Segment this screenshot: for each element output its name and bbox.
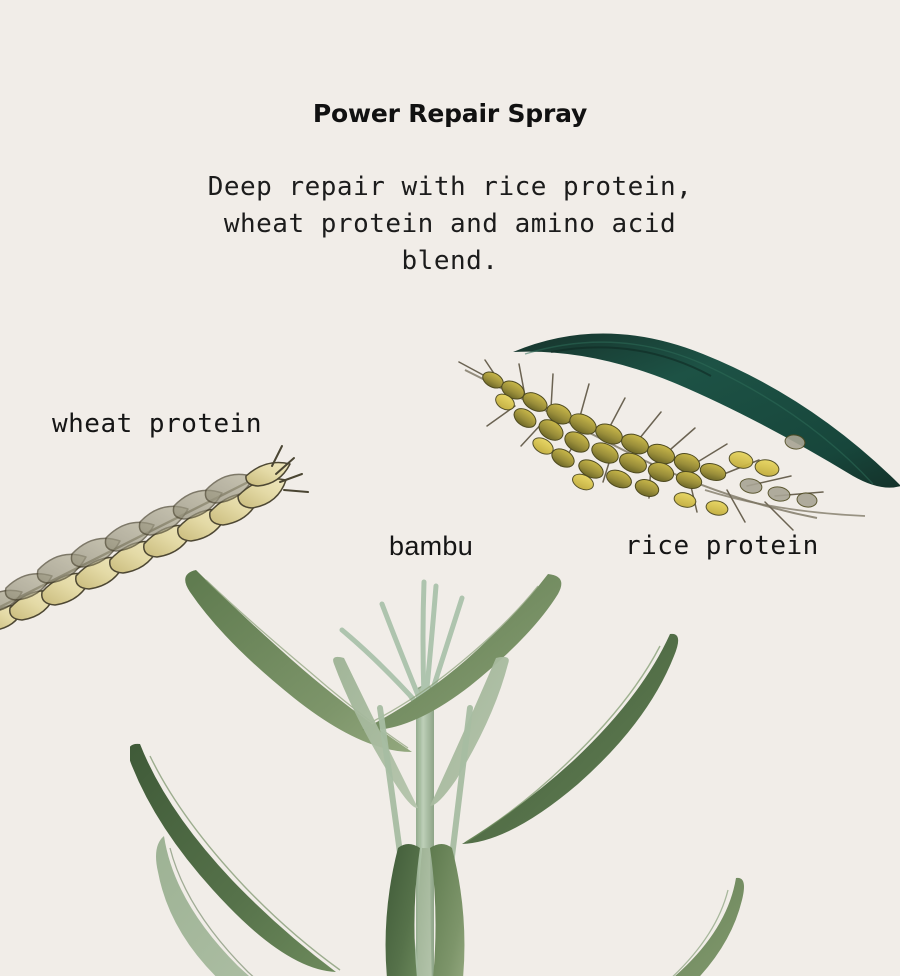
subtitle-line-2: wheat protein and amino acid	[0, 206, 900, 243]
page-title: Power Repair Spray	[0, 99, 900, 128]
subtitle-line-3: blend.	[0, 243, 900, 280]
page-subtitle: Deep repair with rice protein, wheat pro…	[0, 169, 900, 280]
label-wheat-protein: wheat protein	[52, 409, 262, 439]
bambu-illustration	[130, 548, 770, 976]
label-rice-protein: rice protein	[625, 531, 819, 561]
bambu-base-sheath	[386, 844, 465, 976]
rice-protein-illustration	[455, 310, 900, 540]
product-poster: Power Repair Spray Deep repair with rice…	[0, 0, 900, 976]
subtitle-line-1: Deep repair with rice protein,	[0, 169, 900, 206]
label-bambu: bambu	[389, 531, 473, 562]
bambu-shoots	[342, 582, 506, 704]
